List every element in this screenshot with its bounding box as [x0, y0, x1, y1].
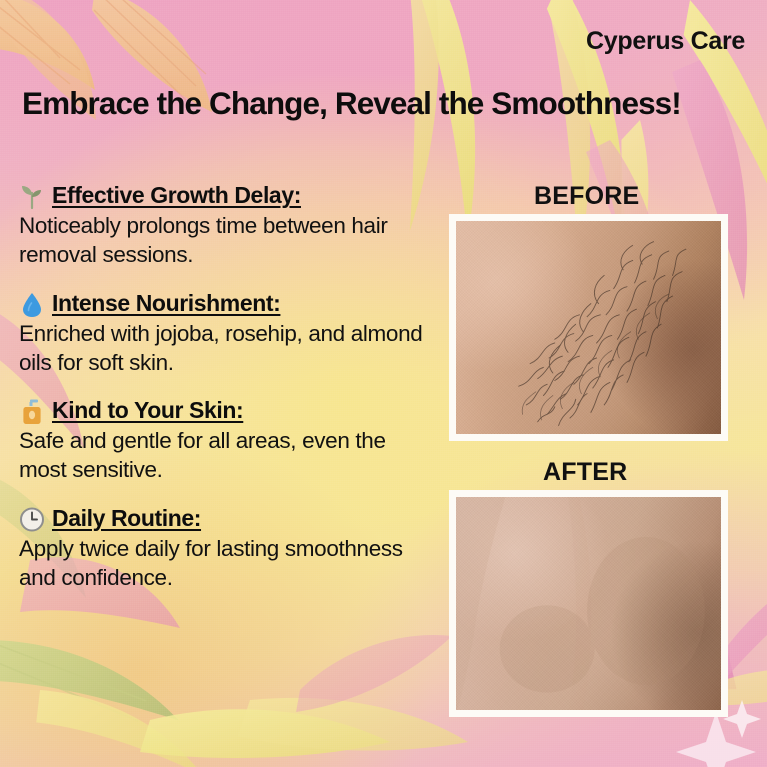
- promo-poster: Cyperus Care Embrace the Change, Reveal …: [0, 0, 767, 767]
- feature-item-daily-routine: Daily Routine: Apply twice daily for las…: [19, 505, 439, 593]
- clock-icon: [19, 506, 45, 533]
- feature-body: Noticeably prolongs time between hair re…: [19, 211, 431, 270]
- feature-item-nourishment: Intense Nourishment: Enriched with jojob…: [19, 290, 439, 378]
- sprout-icon: [19, 183, 45, 210]
- feature-title: Kind to Your Skin:: [52, 397, 243, 424]
- before-photo: [449, 214, 728, 441]
- feature-title: Daily Routine:: [52, 505, 201, 532]
- after-photo: [449, 490, 728, 717]
- after-label: AFTER: [543, 458, 627, 487]
- page-title: Embrace the Change, Reveal the Smoothnes…: [22, 85, 681, 122]
- feature-title: Intense Nourishment:: [52, 290, 280, 317]
- feature-item-skin-safe: Kind to Your Skin: Safe and gentle for a…: [19, 397, 439, 485]
- skin-shading: [456, 497, 721, 710]
- brand-name: Cyperus Care: [586, 27, 745, 56]
- feature-body: Safe and gentle for all areas, even the …: [19, 426, 431, 485]
- feature-list: Effective Growth Delay: Noticeably prolo…: [19, 182, 439, 612]
- feature-title: Effective Growth Delay:: [52, 182, 301, 209]
- hair-texture: [456, 221, 721, 434]
- before-label: BEFORE: [534, 182, 639, 211]
- feature-body: Enriched with jojoba, rosehip, and almon…: [19, 319, 431, 378]
- lotion-bottle-icon: [19, 398, 45, 425]
- feature-body: Apply twice daily for lasting smoothness…: [19, 534, 431, 593]
- feature-item-growth-delay: Effective Growth Delay: Noticeably prolo…: [19, 182, 439, 270]
- water-droplet-icon: [19, 291, 45, 318]
